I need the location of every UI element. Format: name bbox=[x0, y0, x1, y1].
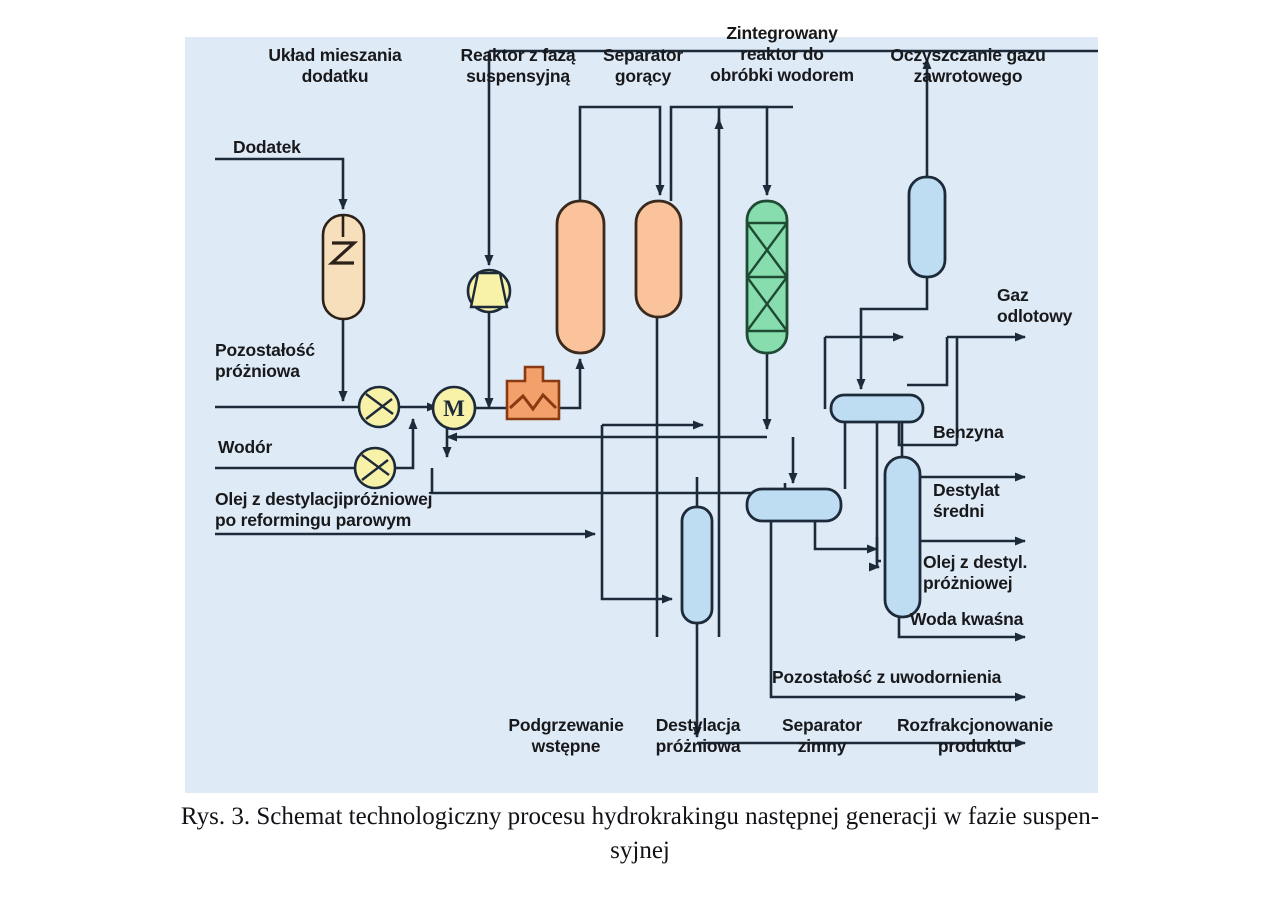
process-flow-diagram-panel: M bbox=[185, 37, 1098, 793]
feed-mixer: M bbox=[433, 387, 475, 429]
hydrogen-pump bbox=[355, 448, 395, 488]
cold-separator-vessel bbox=[747, 489, 841, 521]
label-product-fractionation: Rozfrakcjonowanieproduktu bbox=[897, 715, 1053, 757]
caption-line-2: syjnej bbox=[0, 834, 1280, 868]
vacuum-distillation-column bbox=[682, 507, 712, 623]
label-additive-feed: Dodatek bbox=[233, 137, 301, 158]
label-gasoline-product: Benzyna bbox=[933, 422, 1004, 443]
hydrotreating-reactor-vessel bbox=[747, 201, 787, 353]
line-coldsep-liquid-to-fractionator bbox=[815, 521, 877, 549]
hot-separator-vessel bbox=[636, 201, 681, 317]
label-integrated-hydrotreating-reactor: Zintegrowanyreaktor doobróbki wodorem bbox=[710, 23, 854, 86]
product-fractionator bbox=[885, 457, 920, 617]
label-hydrogen-feed: Wodór bbox=[218, 437, 272, 458]
label-cold-separator: Separatorzimny bbox=[782, 715, 862, 757]
label-vacuum-distillation: Destylacjapróżniowa bbox=[656, 715, 741, 757]
figure-caption: Rys. 3. Schemat technologiczny procesu h… bbox=[0, 800, 1280, 868]
label-recycle-gas-cleanup: Oczyszczanie gazuzawrotowego bbox=[890, 45, 1045, 87]
label-hydrogenation-residue-product: Pozostałość z uwodornienia bbox=[772, 667, 1001, 688]
line-hydrogen-to-suction bbox=[395, 419, 413, 468]
line-slurry-overhead-to-hot-sep bbox=[580, 107, 660, 201]
line-offgas-from-drum bbox=[907, 337, 947, 385]
line-lower-recycle-header bbox=[432, 477, 785, 493]
label-slurry-phase-reactor: Reaktor z faząsuspensyjną bbox=[461, 45, 576, 87]
line-drum-bottoms-elbow bbox=[877, 537, 881, 561]
label-vgo-product: Olej z destyl.próżniowej bbox=[923, 552, 1027, 594]
amine-drum bbox=[831, 395, 923, 422]
label-vacuum-residue-feed: Pozostałośćpróżniowa bbox=[215, 340, 315, 382]
label-hot-separator: Separatorgorący bbox=[603, 45, 683, 87]
recycle-gas-absorber bbox=[909, 177, 945, 277]
label-offgas-product: Gazodlotowy bbox=[997, 285, 1072, 327]
caption-line-1: Rys. 3. Schemat technologiczny procesu h… bbox=[0, 800, 1280, 834]
line-absorber-bottoms-to-drum bbox=[861, 277, 927, 389]
slurry-phase-reactor-vessel bbox=[557, 201, 604, 353]
mixer-label: M bbox=[443, 396, 465, 421]
label-additive-mixing-system: Układ mieszaniadodatku bbox=[268, 45, 401, 87]
label-preheating: Podgrzewaniewstępne bbox=[508, 715, 623, 757]
additive-mixing-vessel bbox=[323, 215, 364, 319]
charge-heater-furnace bbox=[507, 367, 559, 419]
label-middle-distillate-product: Destylatśredni bbox=[933, 480, 1000, 522]
line-feed-to-vacuum-column bbox=[602, 507, 672, 599]
line-furnace-to-slurry-reactor bbox=[559, 359, 580, 408]
recycle-gas-compressor bbox=[468, 270, 510, 312]
figure-page: M bbox=[0, 0, 1280, 907]
label-vgo-steam-reforming-feed: Olej z destylacjipróżniowejpo reformingu… bbox=[215, 489, 432, 531]
label-sour-water-product: Woda kwaśna bbox=[910, 609, 1023, 630]
line-additive-feed bbox=[215, 159, 343, 209]
feed-pump bbox=[359, 387, 399, 427]
